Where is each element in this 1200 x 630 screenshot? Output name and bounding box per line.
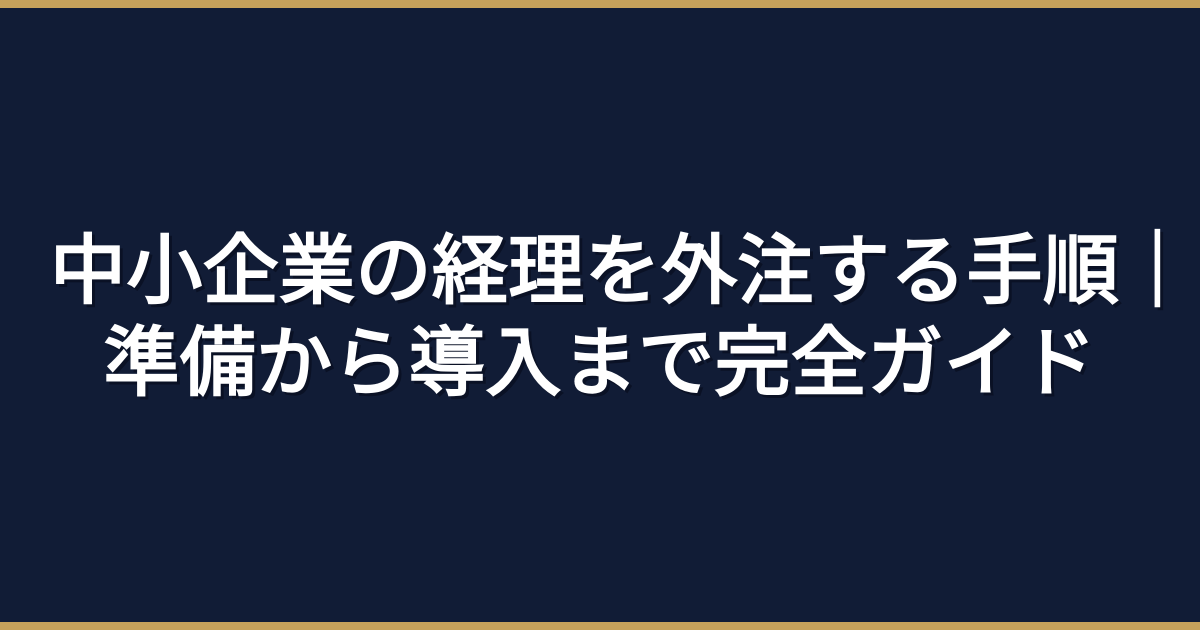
bottom-accent-band [0,622,1200,630]
ogp-banner: 中小企業の経理を外注する手順｜ 準備から導入まで完全ガイド [0,0,1200,630]
page-title: 中小企業の経理を外注する手順｜ 準備から導入まで完全ガイド [50,220,1150,410]
title-line-2: 準備から導入まで完全ガイド [50,318,1150,410]
top-accent-band [0,0,1200,8]
title-line-1: 中小企業の経理を外注する手順｜ [50,226,1150,318]
